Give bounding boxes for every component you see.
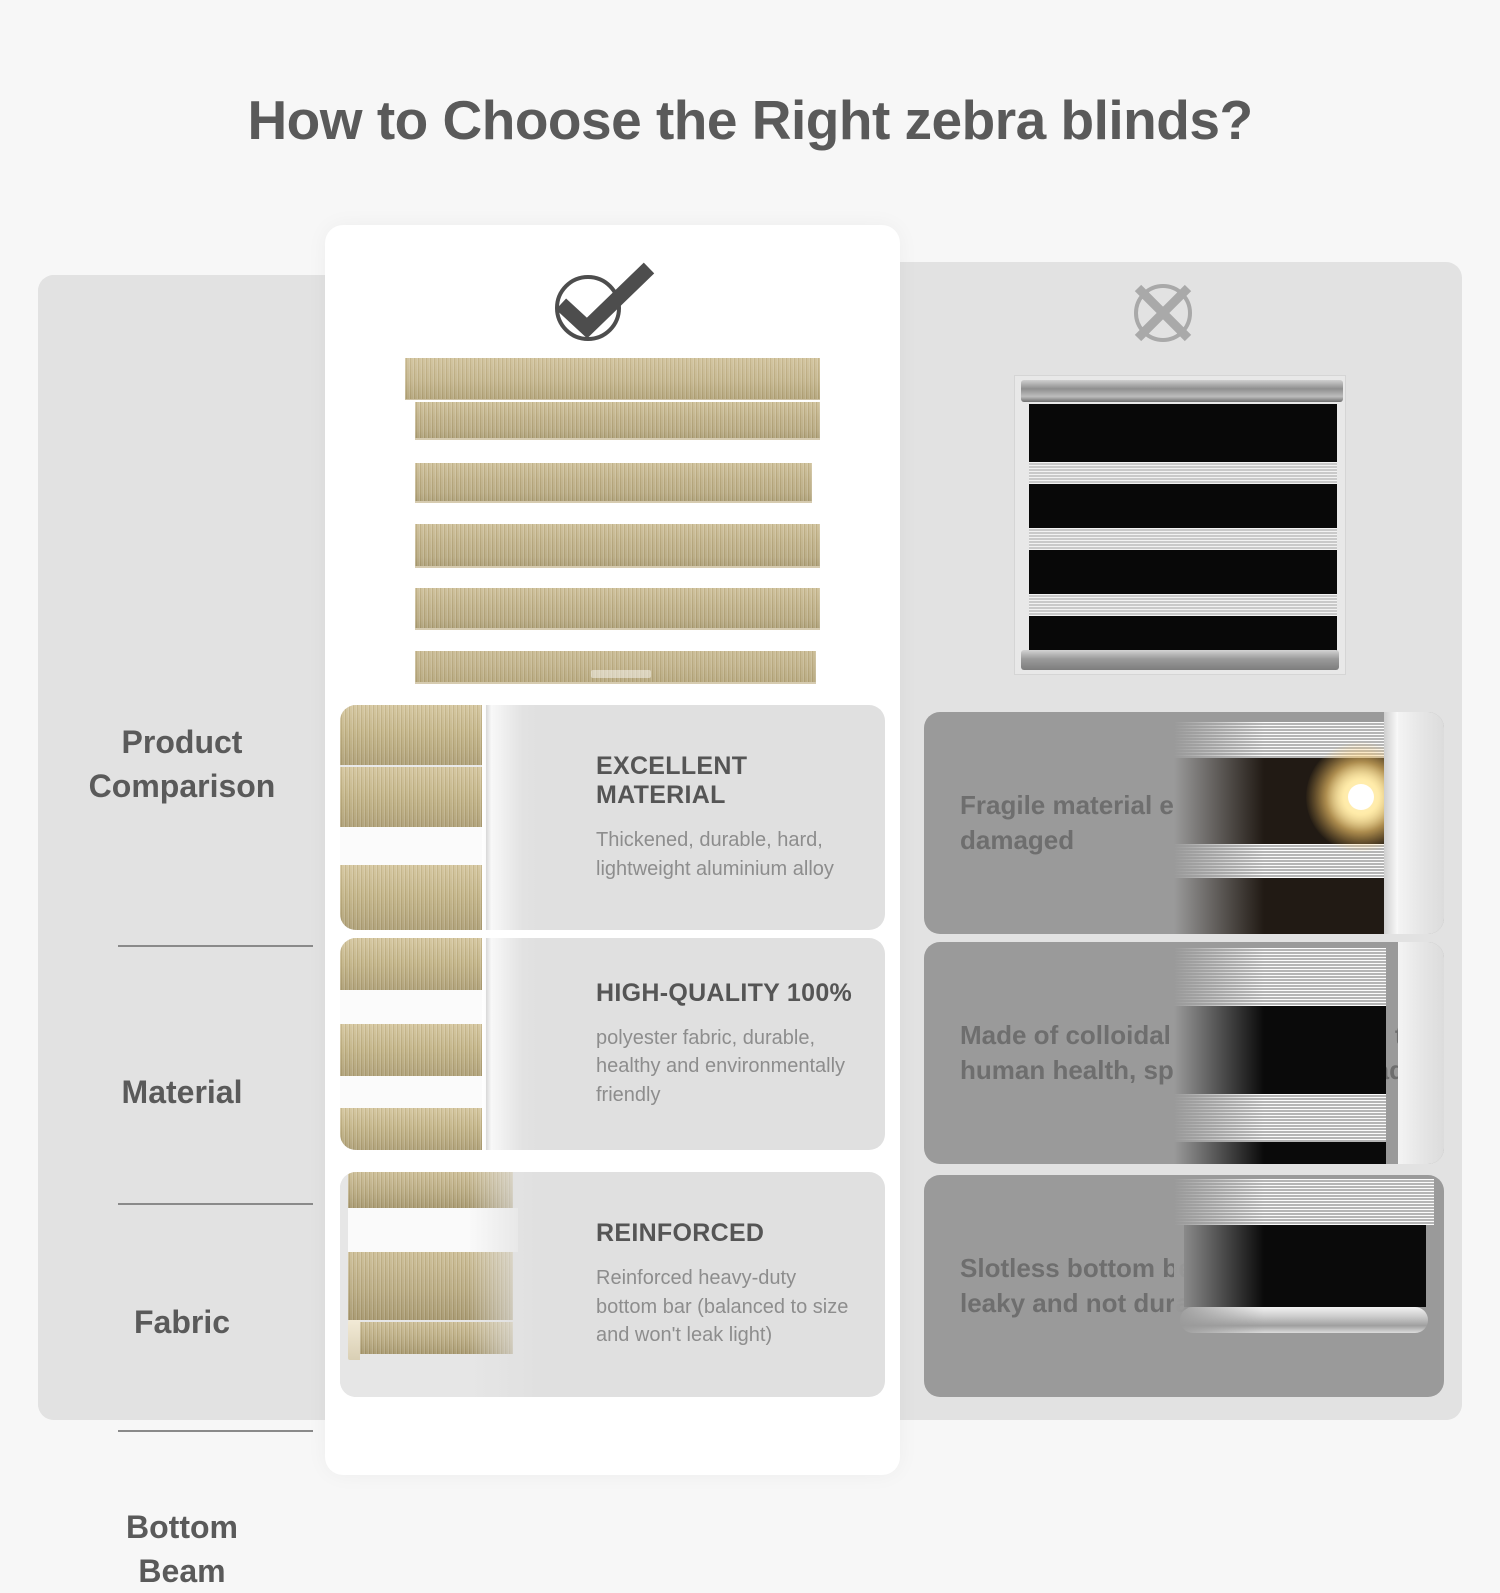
feature-card-fabric-good: HIGH-QUALITY 100% polyester fabric, dura… — [340, 938, 885, 1150]
feature-body: Reinforced heavy-duty bottom bar (balanc… — [596, 1264, 859, 1349]
window-frame — [1398, 942, 1444, 1164]
feature-card-bottom-beam-bad: Slotless bottom beam rails are thin, lea… — [924, 1175, 1444, 1397]
feature-image-fabric-good — [340, 938, 540, 1150]
blind-headrail — [1021, 380, 1343, 402]
row-divider — [118, 1430, 313, 1432]
feature-image-bottom-beam-bad — [1174, 1175, 1444, 1397]
row-label-fabric: Fabric — [38, 1300, 326, 1344]
image-fade — [468, 1172, 540, 1397]
bottom-bar-end-cap — [348, 1320, 360, 1360]
feature-card-material-bad: Fragile material easily deformed and dam… — [924, 712, 1444, 934]
window-frame — [482, 938, 540, 1150]
feature-text-material-good: EXCELLENT MATERIAL Thickened, durable, h… — [540, 705, 885, 930]
feature-card-bottom-beam-good: REINFORCED Reinforced heavy-duty bottom … — [340, 1172, 885, 1397]
blind-band-dark — [1029, 616, 1337, 652]
row-label-line1: Bottom — [38, 1505, 326, 1549]
feature-text-bottom-beam-good: REINFORCED Reinforced heavy-duty bottom … — [540, 1172, 885, 1397]
blind-sheer-gap — [340, 990, 490, 1024]
feature-image-material-bad — [1174, 712, 1444, 934]
row-label-bottom-beam: Bottom Beam — [38, 1505, 326, 1593]
blind-slat — [340, 938, 485, 990]
feature-card-fabric-bad: Made of colloidal material, harmful to h… — [924, 942, 1444, 1164]
blind-slat — [340, 865, 485, 930]
page-title: How to Choose the Right zebra blinds? — [0, 88, 1500, 152]
row-label-product-comparison: Product Comparison — [38, 720, 326, 808]
feature-body: Thickened, durable, hard, lightweight al… — [596, 826, 859, 883]
blind-slat — [415, 463, 812, 503]
blind-band-dark — [1029, 550, 1337, 594]
blind-band-dark — [1029, 404, 1337, 462]
blind-band-dark — [1029, 484, 1337, 528]
feature-image-material-good — [340, 705, 540, 930]
feature-image-fabric-bad — [1174, 942, 1444, 1164]
row-label-column: Product Comparison Material Fabric Botto… — [38, 275, 326, 1420]
window-frame — [482, 705, 540, 930]
image-fade — [1174, 712, 1264, 934]
blind-headrail — [405, 358, 820, 400]
blind-band-sheer — [1029, 594, 1337, 616]
blind-slat — [340, 767, 485, 827]
feature-title: HIGH-QUALITY 100% — [596, 979, 859, 1008]
check-circle-icon — [545, 262, 660, 349]
feature-text-fabric-good: HIGH-QUALITY 100% polyester fabric, dura… — [540, 938, 885, 1150]
image-fade — [1174, 1175, 1264, 1397]
feature-title: EXCELLENT MATERIAL — [596, 752, 859, 810]
x-circle-icon — [1124, 278, 1202, 353]
window-frame-inner — [1384, 712, 1398, 934]
blind-sheer-gap — [340, 1076, 490, 1108]
blind-slat — [340, 1108, 485, 1150]
blind-band-sheer — [1029, 462, 1337, 484]
window-frame — [1398, 712, 1444, 934]
blind-bottom-bar — [415, 651, 816, 684]
blind-slat — [415, 588, 820, 630]
blind-band-sheer — [1029, 528, 1337, 550]
blind-bottom-rail — [1021, 650, 1339, 670]
feature-image-bottom-beam-good — [340, 1172, 540, 1397]
sun-core — [1348, 784, 1374, 810]
image-fade — [1174, 942, 1264, 1164]
bad-hero-product-image — [1014, 375, 1346, 675]
row-label-material: Material — [38, 1070, 326, 1114]
feature-title: REINFORCED — [596, 1219, 859, 1248]
row-label-line2: Comparison — [38, 764, 326, 808]
row-divider — [118, 1203, 313, 1205]
blind-slat — [340, 1024, 485, 1076]
row-divider — [118, 945, 313, 947]
blind-slat — [415, 402, 820, 440]
good-hero-product-image — [405, 358, 820, 698]
blind-slat — [340, 705, 485, 765]
row-label-line2: Beam — [38, 1549, 326, 1593]
feature-body: polyester fabric, durable, healthy and e… — [596, 1024, 859, 1109]
blind-sheer-gap — [340, 827, 490, 865]
feature-card-material-good: EXCELLENT MATERIAL Thickened, durable, h… — [340, 705, 885, 930]
row-label-line1: Product — [38, 720, 326, 764]
blind-slat — [415, 524, 820, 568]
